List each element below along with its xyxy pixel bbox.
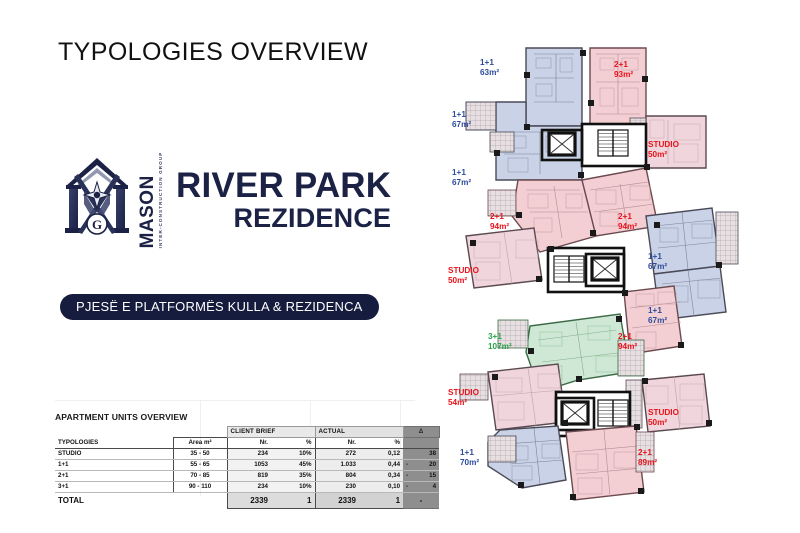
cell-delta-sign — [403, 449, 411, 460]
slide-canvas: TYPOLOGIES OVERVIEW — [0, 0, 800, 533]
cell-typology: STUDIO — [55, 449, 173, 460]
mason-subtitle: INTER-CONSTRUCTION GROUP — [159, 152, 164, 249]
col-header-cb-pct: % — [271, 438, 315, 449]
cell-cb-pct: 35% — [271, 471, 315, 482]
cell-typology: 2+1 — [55, 471, 173, 482]
plan-label-studio-50a: STUDIO50m² — [648, 140, 679, 161]
plan-label-1plus1-67d: 1+167m² — [648, 306, 667, 327]
total-ac-nr: 2339 — [315, 493, 359, 509]
mason-vertical-wordmark: MASON INTER-CONSTRUCTION GROUP — [138, 152, 164, 248]
cell-ac-nr: 272 — [315, 449, 359, 460]
project-wordmark: RIVER PARK REZIDENCE — [176, 168, 391, 232]
plan-label-2plus1-93: 2+193m² — [614, 60, 633, 81]
cell-cb-nr: 234 — [227, 482, 271, 493]
cell-area: 55 - 65 — [173, 460, 227, 471]
apartment-units-table: CLIENT BRIEF ACTUAL Δ TYPOLOGIES Area m²… — [55, 426, 440, 509]
plan-label-1plus1-67c: 1+167m² — [648, 252, 667, 273]
cell-ac-pct: 0,44 — [359, 460, 403, 471]
cell-ac-nr: 230 — [315, 482, 359, 493]
cell-ac-pct: 0,10 — [359, 482, 403, 493]
col-header-ac-nr: Nr. — [315, 438, 359, 449]
plan-label-1plus1-63: 1+163m² — [480, 58, 499, 79]
cell-area: 90 - 110 — [173, 482, 227, 493]
floor-plan-drawing — [430, 40, 780, 510]
total-cb-pct: 1 — [271, 493, 315, 509]
plan-label-2plus1-89: 2+189m² — [638, 448, 657, 469]
plan-label-1plus1-67b: 1+167m² — [452, 168, 471, 189]
col-header-typologies: TYPOLOGIES — [55, 438, 173, 449]
cell-typology: 1+1 — [55, 460, 173, 471]
table-group-header-row: CLIENT BRIEF ACTUAL Δ — [55, 427, 439, 438]
table-row: STUDIO 35 - 50 234 10% 272 0,12 38 — [55, 449, 439, 460]
cell-cb-pct: 45% — [271, 460, 315, 471]
mason-masonic-emblem-icon: G — [58, 152, 136, 248]
plan-label-studio-50c: STUDIO50m² — [648, 408, 679, 429]
plan-label-1plus1-70: 1+170m² — [460, 448, 479, 469]
table-row: 1+1 55 - 65 1053 45% 1.033 0,44 - 20 — [55, 460, 439, 471]
table-total-row: TOTAL 2339 1 2339 1 - — [55, 493, 439, 509]
table-row: 2+1 70 - 85 819 35% 804 0,34 - 15 — [55, 471, 439, 482]
cell-ac-pct: 0,12 — [359, 449, 403, 460]
cell-typology: 3+1 — [55, 482, 173, 493]
svg-text:G: G — [92, 217, 102, 232]
plan-label-2plus1-94a: 2+194m² — [490, 212, 509, 233]
table-title: APARTMENT UNITS OVERVIEW — [55, 412, 415, 422]
group-header-client-brief: CLIENT BRIEF — [227, 427, 315, 438]
cell-cb-nr: 1053 — [227, 460, 271, 471]
plan-label-2plus1-94b: 2+194m² — [618, 212, 637, 233]
cell-ac-nr: 804 — [315, 471, 359, 482]
cell-area: 70 - 85 — [173, 471, 227, 482]
apartment-units-table-block: APARTMENT UNITS OVERVIEW CLIENT BRIEF AC… — [55, 412, 415, 509]
total-ac-pct: 1 — [359, 493, 403, 509]
page-title: TYPOLOGIES OVERVIEW — [58, 38, 368, 67]
plan-label-2plus1-94c: 2+194m² — [618, 332, 637, 353]
total-area — [173, 493, 227, 509]
platform-banner: PJESË E PLATFORMËS KULLA & REZIDENCA — [60, 294, 379, 320]
mason-word: MASON — [138, 175, 157, 248]
col-header-area: Area m² — [173, 438, 227, 449]
cell-cb-pct: 10% — [271, 482, 315, 493]
cell-delta-sign: - — [403, 471, 411, 482]
total-label: TOTAL — [55, 493, 173, 509]
cell-ac-pct: 0,34 — [359, 471, 403, 482]
cell-delta-sign: - — [403, 482, 411, 493]
col-header-ac-pct: % — [359, 438, 403, 449]
plan-label-3plus1-107: 3+1107m² — [488, 332, 512, 353]
cell-delta-sign: - — [403, 460, 411, 471]
cell-cb-pct: 10% — [271, 449, 315, 460]
table-column-header-row: TYPOLOGIES Area m² Nr. % Nr. % — [55, 438, 439, 449]
plan-label-studio-50b: STUDIO50m² — [448, 266, 479, 287]
group-header-actual: ACTUAL — [315, 427, 403, 438]
table-row: 3+1 90 - 110 234 10% 230 0,10 - 4 — [55, 482, 439, 493]
total-cb-nr: 2339 — [227, 493, 271, 509]
typical-floor-plan: 1+163m² 2+193m² 1+167m² STUDIO50m² 1+167… — [430, 40, 780, 510]
group-blank-typ — [55, 427, 173, 438]
cell-area: 35 - 50 — [173, 449, 227, 460]
cell-cb-nr: 234 — [227, 449, 271, 460]
wordmark-line-1: RIVER PARK — [176, 168, 391, 204]
plan-label-1plus1-67a: 1+167m² — [452, 110, 471, 131]
col-header-cb-nr: Nr. — [227, 438, 271, 449]
plan-label-studio-54: STUDIO54m² — [448, 388, 479, 409]
cell-cb-nr: 819 — [227, 471, 271, 482]
wordmark-line-2: REZIDENCE — [176, 204, 391, 232]
group-blank-area — [173, 427, 227, 438]
brand-logo: G MASON INTER-CONSTRUCTION GROUP RIVER P… — [58, 152, 391, 248]
cell-ac-nr: 1.033 — [315, 460, 359, 471]
